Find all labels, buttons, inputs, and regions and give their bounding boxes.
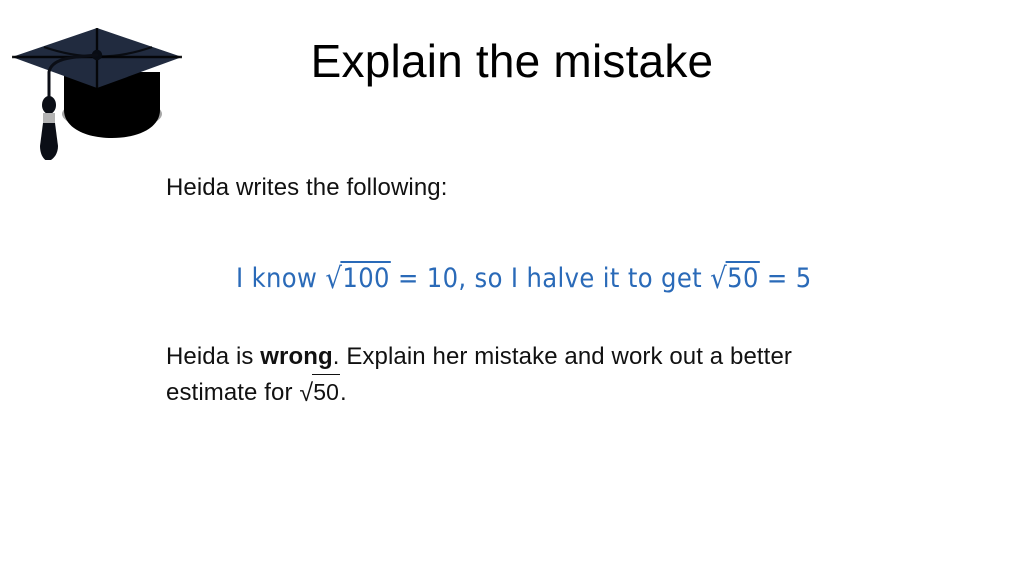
student-working-result: = 5: [767, 263, 812, 294]
slide-canvas: Explain the mistake Heida writes the fol…: [0, 0, 1024, 576]
radical-sign-icon: √: [299, 375, 313, 412]
radical-50-blue: √50: [709, 261, 759, 295]
prompt-before-bold: Heida is: [166, 343, 260, 370]
radical-50-black: √50: [299, 374, 340, 412]
radicand-50-blue: 50: [725, 261, 759, 294]
radicand-100: 100: [341, 261, 391, 294]
intro-text: Heida writes the following:: [166, 172, 448, 204]
prompt-bold-word: wrong: [260, 343, 333, 370]
student-working-middle: = 10, so I halve it to get: [398, 263, 702, 294]
task-prompt: Heida is wrong. Explain her mistake and …: [166, 339, 866, 412]
radicand-50-black: 50: [312, 374, 340, 410]
prompt-period: .: [340, 379, 347, 406]
page-title: Explain the mistake: [0, 36, 1024, 88]
student-working-prefix: I know: [236, 263, 317, 294]
student-working-line: I know√100= 10, so I halve it to get√50=…: [236, 261, 812, 295]
radical-100: √100: [324, 261, 390, 295]
